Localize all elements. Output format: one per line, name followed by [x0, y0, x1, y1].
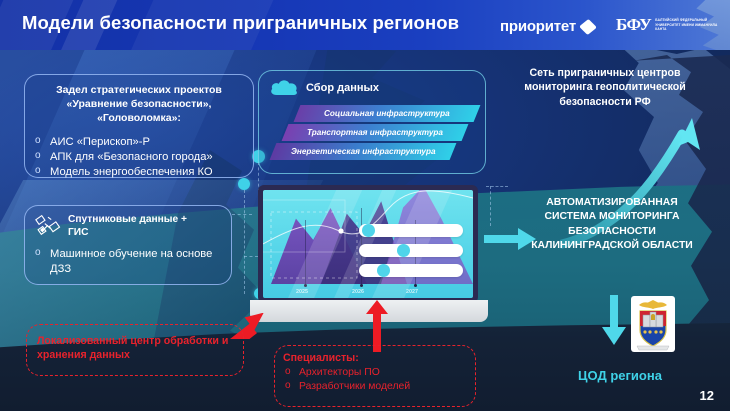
axis-dot-2027 [414, 284, 417, 287]
band-social-label: Социальная инфраструктура [324, 109, 450, 118]
logo-prioritet: приоритет [500, 18, 594, 35]
slider-row-1[interactable] [359, 224, 463, 237]
slider-row-2[interactable] [359, 244, 463, 257]
text-automated-monitoring-system: АВТОМАТИЗИРОВАННАЯ СИСТЕМА МОНИТОРИНГА Б… [522, 196, 702, 253]
page-title: Модели безопасности приграничных регионо… [22, 12, 459, 34]
connector-line-vertical-2 [244, 190, 245, 294]
connector-line-horizontal-3 [486, 186, 508, 187]
logo-prioritet-label: приоритет [500, 18, 576, 35]
slider-knob-1[interactable] [362, 224, 375, 237]
slide-root: Модели безопасности приграничных регионо… [0, 0, 730, 411]
card-strategic-list: АИС «Перископ»-Р АПК для «Безопасного го… [33, 135, 253, 180]
list-item: Разработчики моделей [283, 380, 475, 394]
laptop-screen: 2025 2026 2027 [263, 190, 473, 298]
laptop-body: 2025 2026 2027 [258, 185, 478, 303]
band-transport: Транспортная инфраструктура [282, 124, 469, 141]
list-item: Модель энергообеспечения КО [33, 165, 253, 180]
callout-dpc-text: Локализованный центр обработки и хранени… [37, 334, 243, 363]
card-collect-header: Сбор данных [269, 78, 485, 97]
infrastructure-bands: Социальная инфраструктура Транспортная и… [269, 103, 477, 169]
axis-dot-2026 [360, 284, 363, 287]
card-data-collection: Сбор данных Социальная инфраструктура Тр… [258, 70, 486, 174]
text-border-monitoring-network: Сеть приграничных центров мониторинга ге… [512, 66, 698, 109]
card-satellite-header: Спутниковые данные + ГИС [35, 214, 231, 240]
slider-row-3[interactable] [359, 264, 463, 277]
logo-bfu: БФУ БАЛТИЙСКИЙ ФЕДЕРАЛЬНЫЙ УНИВЕРСИТЕТ И… [616, 15, 721, 35]
connector-line-vertical-3 [490, 186, 491, 226]
band-transport-label: Транспортная инфраструктура [307, 128, 443, 137]
callout-specialists-title: Специалисты: [283, 352, 475, 364]
satellite-icon [35, 214, 61, 238]
kaliningrad-coat-of-arms-icon [631, 296, 675, 352]
band-energy: Энергетическая инфраструктура [270, 143, 457, 160]
list-item: Машинное обучение на основе ДЗЗ [33, 247, 231, 277]
logo-bfu-mark: БФУ [616, 15, 651, 35]
cloud-icon [269, 78, 299, 97]
band-energy-label: Энергетическая инфраструктура [291, 147, 436, 156]
card-satellite-data: Спутниковые данные + ГИС Машинное обучен… [24, 205, 232, 285]
axis-label-2027: 2027 [406, 289, 418, 295]
callout-data-processing-center: Локализованный центр обработки и хранени… [26, 324, 244, 376]
slider-knob-3[interactable] [377, 264, 390, 277]
card-collect-title: Сбор данных [306, 82, 379, 94]
connector-line-horizontal-1 [232, 214, 252, 215]
callout-specialists-list: Архитекторы ПО Разработчики моделей [283, 366, 475, 393]
card-strategic-title: Задел стратегических проектов «Уравнение… [35, 84, 243, 126]
slider-knob-2[interactable] [397, 244, 410, 257]
axis-label-2026: 2026 [352, 289, 364, 295]
list-item: Архитекторы ПО [283, 366, 475, 380]
page-number: 12 [700, 388, 714, 403]
card-satellite-list: Машинное обучение на основе ДЗЗ [33, 247, 231, 277]
card-strategic-projects: Задел стратегических проектов «Уравнение… [24, 74, 254, 178]
band-social: Социальная инфраструктура [294, 105, 481, 122]
card-satellite-title: Спутниковые данные + ГИС [68, 214, 193, 240]
list-item: АПК для «Безопасного города» [33, 150, 253, 165]
callout-specialists: Специалисты: Архитекторы ПО Разработчики… [274, 345, 476, 407]
cyan-arrow-down [602, 295, 626, 345]
list-item: АИС «Перископ»-Р [33, 135, 253, 150]
text-regional-data-center: ЦОД региона [560, 368, 680, 383]
logo-bfu-subtitle: БАЛТИЙСКИЙ ФЕДЕРАЛЬНЫЙ УНИВЕРСИТЕТ ИМЕНИ… [655, 18, 721, 32]
connector-dot-2 [238, 178, 250, 190]
